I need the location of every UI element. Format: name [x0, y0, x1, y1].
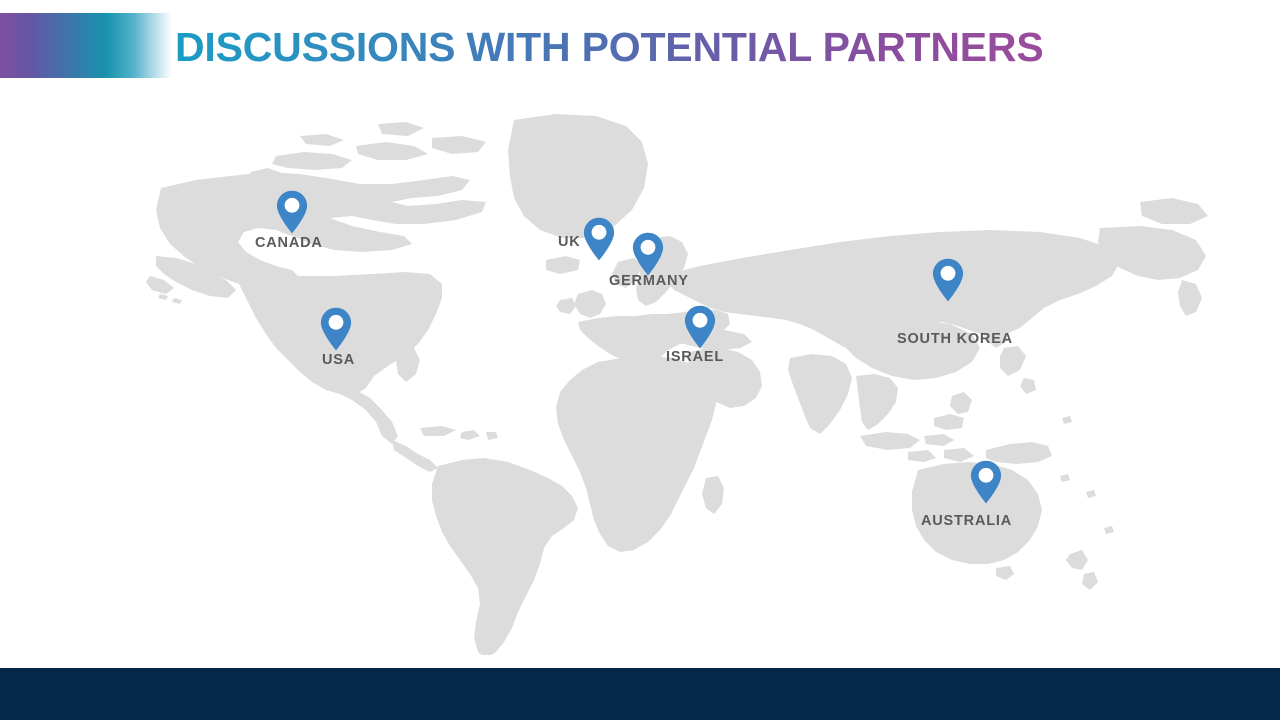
map-label-germany: GERMANY: [609, 273, 689, 289]
location-pin-icon: [932, 258, 964, 302]
world-map-graphic: [0, 80, 1280, 655]
footer-bar: DECODING BIOLOGY 22: [0, 668, 1280, 720]
location-pin-icon: [276, 190, 308, 234]
location-pin-icon: [583, 217, 615, 261]
map-pin-israel[interactable]: [684, 305, 716, 349]
map-pin-south-korea[interactable]: [932, 258, 964, 302]
slide-canvas: DISCUSSIONS WITH POTENTIAL PARTNERS: [0, 0, 1280, 720]
map-pin-usa[interactable]: [320, 307, 352, 351]
map-label-usa: USA: [322, 352, 355, 368]
map-label-israel: ISRAEL: [666, 349, 724, 365]
page-title: DISCUSSIONS WITH POTENTIAL PARTNERS: [175, 21, 1043, 73]
location-pin-icon: [684, 305, 716, 349]
map-pin-uk[interactable]: [583, 217, 615, 261]
world-map-container: CANADAUSAUKGERMANYISRAELSOUTH KOREAAUSTR…: [0, 80, 1280, 655]
map-pin-australia[interactable]: [970, 460, 1002, 504]
map-label-uk: UK: [558, 234, 581, 250]
map-label-canada: CANADA: [255, 235, 323, 251]
map-label-australia: AUSTRALIA: [921, 513, 1012, 529]
location-pin-icon: [970, 460, 1002, 504]
location-pin-icon: [632, 232, 664, 276]
map-pin-germany[interactable]: [632, 232, 664, 276]
location-pin-icon: [320, 307, 352, 351]
map-pin-canada[interactable]: [276, 190, 308, 234]
map-label-south-korea: SOUTH KOREA: [897, 331, 1013, 347]
gradient-accent-bar: [0, 13, 172, 78]
